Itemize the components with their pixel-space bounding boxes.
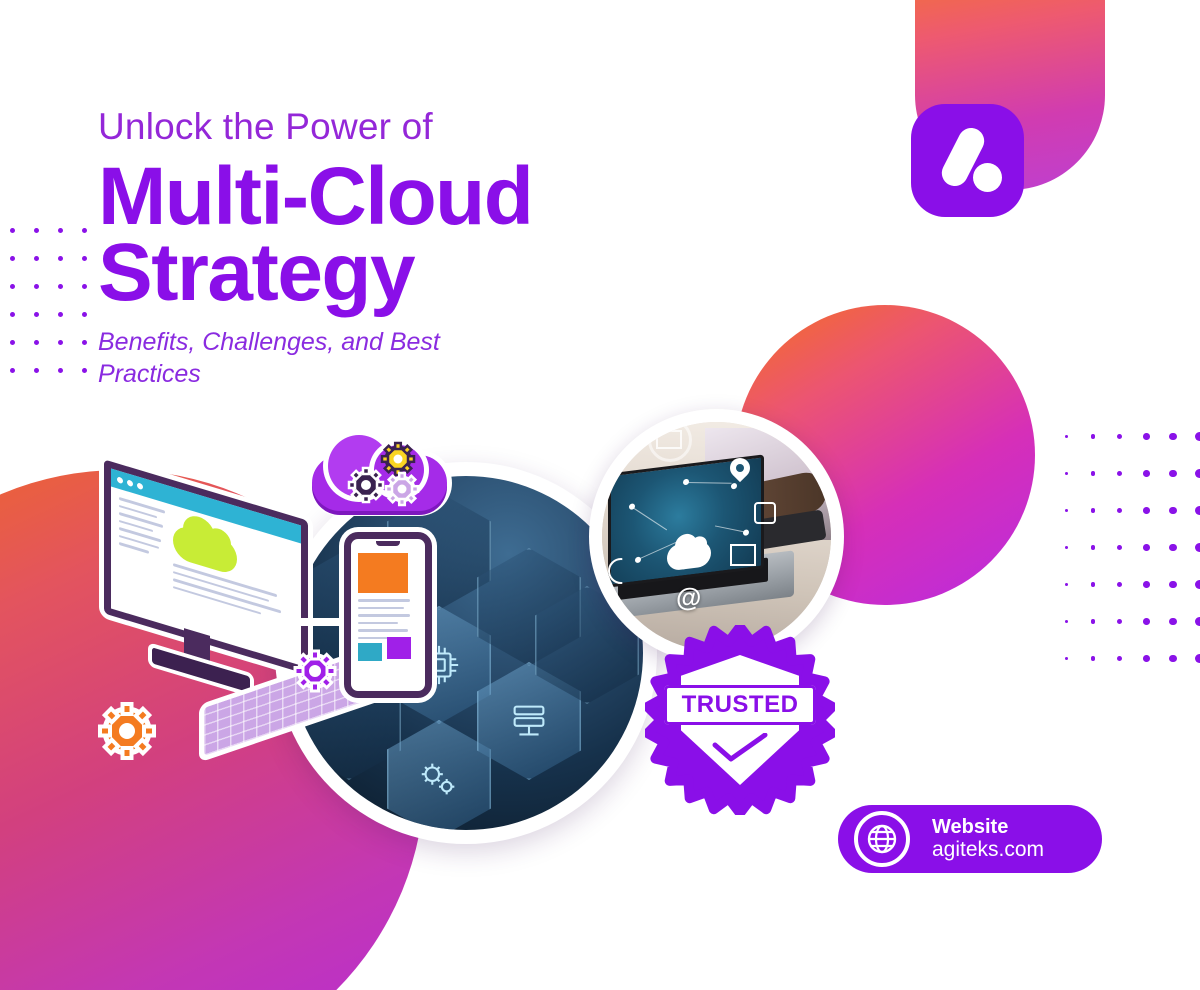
dot [1169,544,1177,552]
dot [1169,655,1177,663]
poster-canvas: Unlock the Power of Multi-Cloud Strategy… [0,0,1200,990]
trusted-badge: TRUSTED [645,625,835,815]
cloud-icon [667,540,711,571]
text-lines [119,497,167,564]
dot-row [1065,469,1200,478]
dot [10,284,15,289]
dot [1195,506,1200,515]
network-node [731,483,737,490]
dot [58,228,63,233]
subtitle-text: Benefits, Challenges, and Best Practices [98,327,498,390]
laptop-photo: @ [602,422,831,651]
network-link [686,482,732,484]
gear-icon-yellow [382,443,414,475]
network-link [632,507,668,531]
phone-banner [358,553,408,593]
dot [58,368,63,373]
dot-grid-right [1065,432,1200,691]
website-badge[interactable]: Website agiteks.com [838,805,1102,873]
dot [1091,582,1095,586]
dot [82,228,87,233]
mail-icon [656,430,682,449]
check-icon [711,733,769,763]
headline-line-2: Strategy [98,235,658,311]
website-label: Website [932,816,1044,838]
dot-row [10,284,106,289]
dot [34,368,39,373]
dot [10,228,15,233]
dot [1143,433,1150,440]
gear-icon-purple [292,648,338,694]
dot [34,228,39,233]
dot [1169,581,1177,589]
agiteks-logo-icon[interactable] [911,104,1024,217]
logo-dot-shape [973,163,1002,192]
dot-row [1065,506,1200,515]
dot [1065,657,1068,660]
dot [1195,432,1200,441]
dot [1065,435,1068,438]
headline-block: Unlock the Power of Multi-Cloud Strategy… [98,108,658,390]
dot-row [10,368,106,373]
dot [82,368,87,373]
dot [1091,434,1095,438]
dot [1143,507,1150,514]
dot [1117,619,1122,624]
dot [82,340,87,345]
dot [1091,508,1095,512]
page-title: Multi-Cloud Strategy [98,159,658,312]
dot [1091,619,1095,623]
dot [1143,470,1150,477]
dot [58,340,63,345]
dot [58,312,63,317]
dot [1195,580,1200,589]
dot [1091,471,1095,475]
dot [1117,545,1122,550]
grid-icon [730,544,756,566]
dot-row [1065,654,1200,663]
dot [1195,543,1200,552]
dot [34,256,39,261]
dot [34,312,39,317]
dot [1065,620,1068,623]
dot [58,256,63,261]
dot-row [10,228,106,233]
dot [1195,654,1200,663]
website-url: agiteks.com [932,838,1044,862]
globe-icon [854,811,910,867]
server-stack-icon [506,698,552,744]
eyebrow-text: Unlock the Power of [98,108,658,147]
dot [10,312,15,317]
dot [10,368,15,373]
dot [1117,471,1122,476]
dot [1065,472,1068,475]
dot-row [10,312,106,317]
dot-row [10,256,106,261]
dot-row [1065,432,1200,441]
trusted-label: TRUSTED [682,691,799,719]
dot [82,312,87,317]
dot [1169,470,1177,478]
dot [1091,656,1095,660]
cloud-with-gears-icon [312,437,447,529]
dot [34,340,39,345]
network-link [715,525,744,532]
dot-row [1065,617,1200,626]
phone-icon [754,502,776,524]
dot-row [10,340,106,345]
dot [1091,545,1095,549]
dot [1143,618,1150,625]
dot [1117,508,1122,513]
website-badge-text: Website agiteks.com [932,816,1044,862]
dot [34,284,39,289]
trusted-label-band: TRUSTED [664,685,816,725]
dot [1143,655,1150,662]
dot [1065,509,1068,512]
smartphone-icon [344,532,432,698]
dot [10,256,15,261]
text-lines [173,563,285,627]
dot [1195,617,1200,626]
gear-icon-dark [349,468,383,502]
phone-notch [376,541,400,546]
dot-row [1065,580,1200,589]
dot [1143,581,1150,588]
dot [10,340,15,345]
dot [1117,434,1122,439]
dot [82,284,87,289]
dot [1143,544,1150,551]
dot [1195,469,1200,478]
dot-grid-left [10,228,106,396]
cloud-gear-set [312,437,447,529]
dot-row [1065,543,1200,552]
dot [1065,546,1068,549]
phone-tile [358,643,382,661]
dot [1169,433,1177,441]
dot [1169,618,1177,626]
phone-tile [387,637,411,659]
dot [1169,507,1177,515]
gear-icon-lilac [386,473,418,505]
gear-icon-orange [98,702,156,760]
dot [1117,656,1122,661]
dot [58,284,63,289]
dot [1065,583,1068,586]
at-symbol-icon: @ [676,582,701,613]
dot [1117,582,1122,587]
dot [82,256,87,261]
